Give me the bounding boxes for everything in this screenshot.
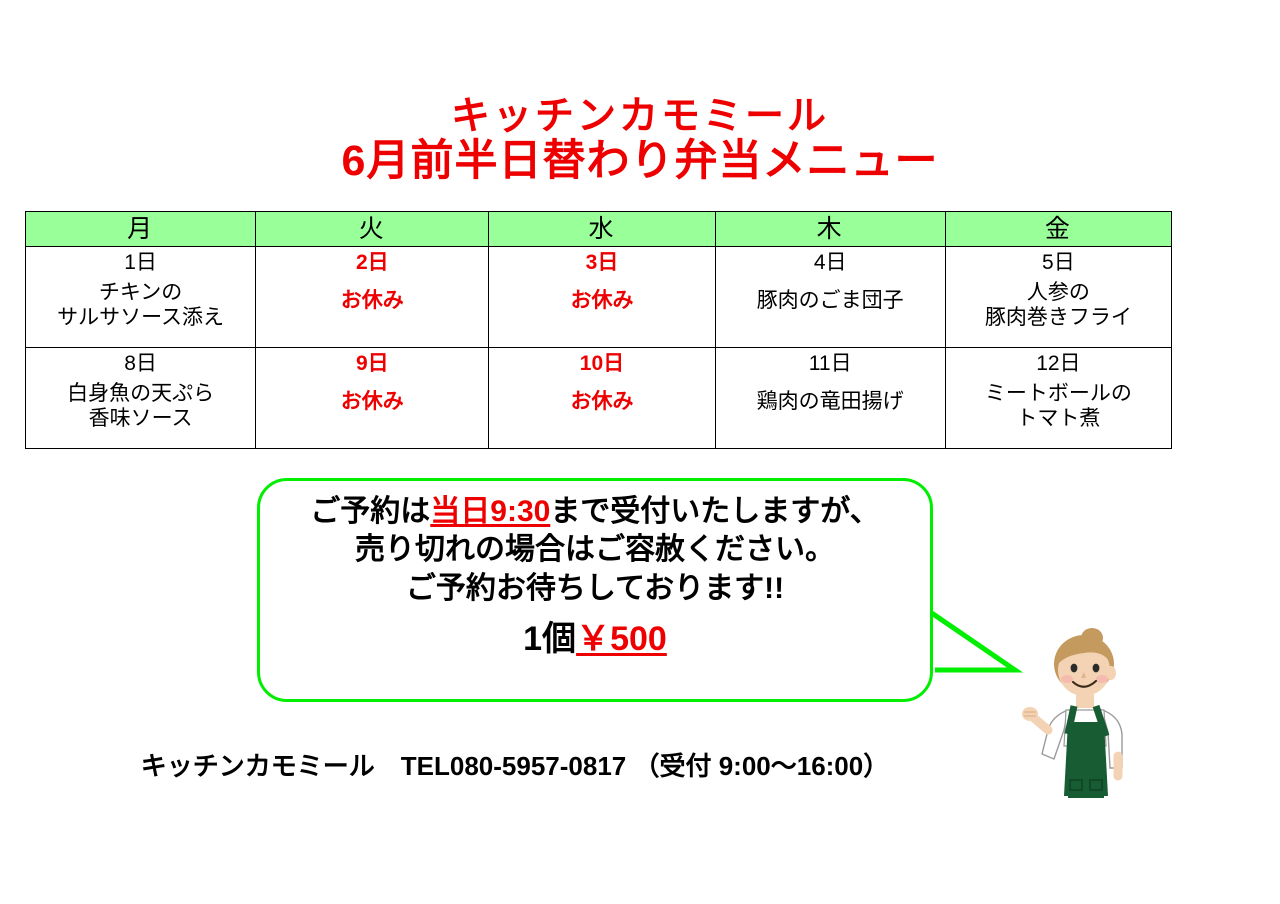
- column-header-monday: 月: [26, 212, 256, 247]
- column-header-tuesday: 火: [256, 212, 489, 247]
- bubble-line-soldout: 売り切れの場合はご容赦ください。: [260, 531, 930, 569]
- menu-dish: 鶏肉の竜田揚げ: [716, 389, 945, 415]
- price-unit-label: 1個: [523, 620, 576, 658]
- price-amount: ￥500: [576, 620, 667, 658]
- title-shop-name: キッチンカモミール: [0, 96, 1280, 137]
- bubble-deadline-highlight: 当日9:30: [430, 495, 550, 528]
- menu-dish: 白身魚の天ぷら 香味ソース: [26, 381, 255, 432]
- menu-cell-day12: 12日 ミートボールの トマト煮: [945, 348, 1171, 449]
- menu-date: 2日: [256, 251, 488, 276]
- menu-dish: お休み: [256, 389, 488, 415]
- column-header-friday: 金: [945, 212, 1171, 247]
- menu-dish: チキンの サルサソース添え: [26, 280, 255, 331]
- table-header-row: 月 火 水 木 金: [26, 212, 1172, 247]
- bubble-text-before-highlight: ご予約は: [310, 495, 430, 528]
- menu-date: 4日: [716, 251, 945, 276]
- menu-table: 月 火 水 木 金 1日 チキンの サルサソース添え 2日 お休み 3日 お休み…: [25, 211, 1172, 449]
- menu-dish: お休み: [489, 288, 714, 314]
- menu-cell-day1: 1日 チキンの サルサソース添え: [26, 247, 256, 348]
- title-menu-period: 6月前半日替わり弁当メニュー: [0, 139, 1280, 185]
- menu-date: 9日: [256, 352, 488, 377]
- column-header-wednesday: 水: [489, 212, 715, 247]
- menu-cell-day2: 2日 お休み: [256, 247, 489, 348]
- menu-dish: ミートボールの トマト煮: [946, 381, 1171, 432]
- menu-dish: お休み: [489, 389, 714, 415]
- menu-cell-day4: 4日 豚肉のごま団子: [715, 247, 945, 348]
- menu-dish: お休み: [256, 288, 488, 314]
- table-row: 1日 チキンの サルサソース添え 2日 お休み 3日 お休み 4日 豚肉のごま団…: [26, 247, 1172, 348]
- menu-dish: 豚肉のごま団子: [716, 288, 945, 314]
- bubble-line-waiting: ご予約お待ちしております!!: [260, 570, 930, 608]
- bubble-text-after-highlight: まで受付いたしますが、: [550, 495, 879, 528]
- speech-bubble: ご予約は当日9:30まで受付いたしますが、 売り切れの場合はご容赦ください。 ご…: [257, 478, 933, 702]
- menu-date: 3日: [489, 251, 714, 276]
- menu-cell-day9: 9日 お休み: [256, 348, 489, 449]
- footer-contact: キッチンカモミール TEL080-5957-0817 （受付 9:00〜16:0…: [0, 746, 1030, 783]
- menu-date: 12日: [946, 352, 1171, 377]
- table-row: 8日 白身魚の天ぷら 香味ソース 9日 お休み 10日 お休み 11日 鶏肉の竜…: [26, 348, 1172, 449]
- menu-date: 11日: [716, 352, 945, 377]
- menu-dish: 人参の 豚肉巻きフライ: [946, 280, 1171, 331]
- menu-date: 8日: [26, 352, 255, 377]
- menu-date: 10日: [489, 352, 714, 377]
- waving-staff-woman-illustration: [1018, 626, 1158, 836]
- bubble-line-reservation: ご予約は当日9:30まで受付いたしますが、: [260, 493, 930, 531]
- speech-bubble-text: ご予約は当日9:30まで受付いたしますが、 売り切れの場合はご容赦ください。 ご…: [260, 481, 930, 662]
- menu-date: 1日: [26, 251, 255, 276]
- menu-cell-day5: 5日 人参の 豚肉巻きフライ: [945, 247, 1171, 348]
- page-title: キッチンカモミール 6月前半日替わり弁当メニュー: [0, 96, 1280, 185]
- menu-date: 5日: [946, 251, 1171, 276]
- bubble-line-price: 1個￥500: [260, 618, 930, 662]
- column-header-thursday: 木: [715, 212, 945, 247]
- menu-cell-day3: 3日 お休み: [489, 247, 715, 348]
- menu-cell-day8: 8日 白身魚の天ぷら 香味ソース: [26, 348, 256, 449]
- menu-cell-day10: 10日 お休み: [489, 348, 715, 449]
- menu-cell-day11: 11日 鶏肉の竜田揚げ: [715, 348, 945, 449]
